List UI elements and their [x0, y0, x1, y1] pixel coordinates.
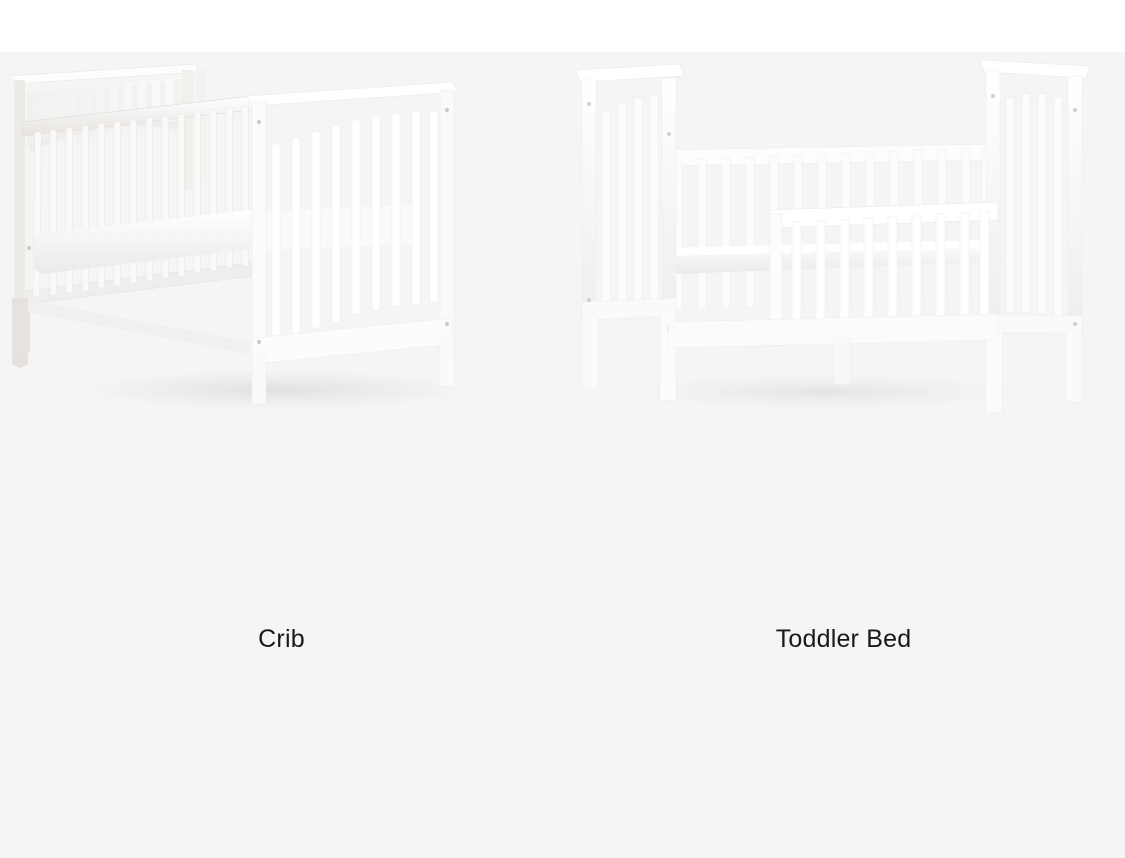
product-card-toddler-bed[interactable]: Toddler Bed	[562, 52, 1125, 858]
crib-illustration	[0, 52, 563, 592]
crib-floor-shadow	[60, 368, 490, 412]
toddler-bed-image[interactable]	[562, 52, 1125, 592]
crib-lower-stretcher	[28, 300, 250, 354]
toddler-bed-front-frame-rail	[666, 260, 998, 348]
toddler-bed-center-leg	[834, 338, 850, 384]
product-card-crib[interactable]: Crib	[0, 52, 563, 858]
comparison-panel: Crib	[0, 52, 1125, 858]
crib-far-side-rail	[196, 68, 246, 178]
crib-footboard-panel[interactable]	[246, 82, 458, 404]
product-comparison-page: Crib	[0, 0, 1125, 858]
toddler-bed-right-post[interactable]	[980, 60, 1090, 412]
crib-image[interactable]	[0, 52, 563, 592]
crib-hardware-dot	[27, 246, 31, 250]
top-white-band	[0, 0, 1125, 52]
product-label-toddler-bed: Toddler Bed	[562, 624, 1125, 654]
toddler-bed-left-post[interactable]	[576, 64, 684, 400]
toddler-bed-illustration	[562, 52, 1125, 592]
